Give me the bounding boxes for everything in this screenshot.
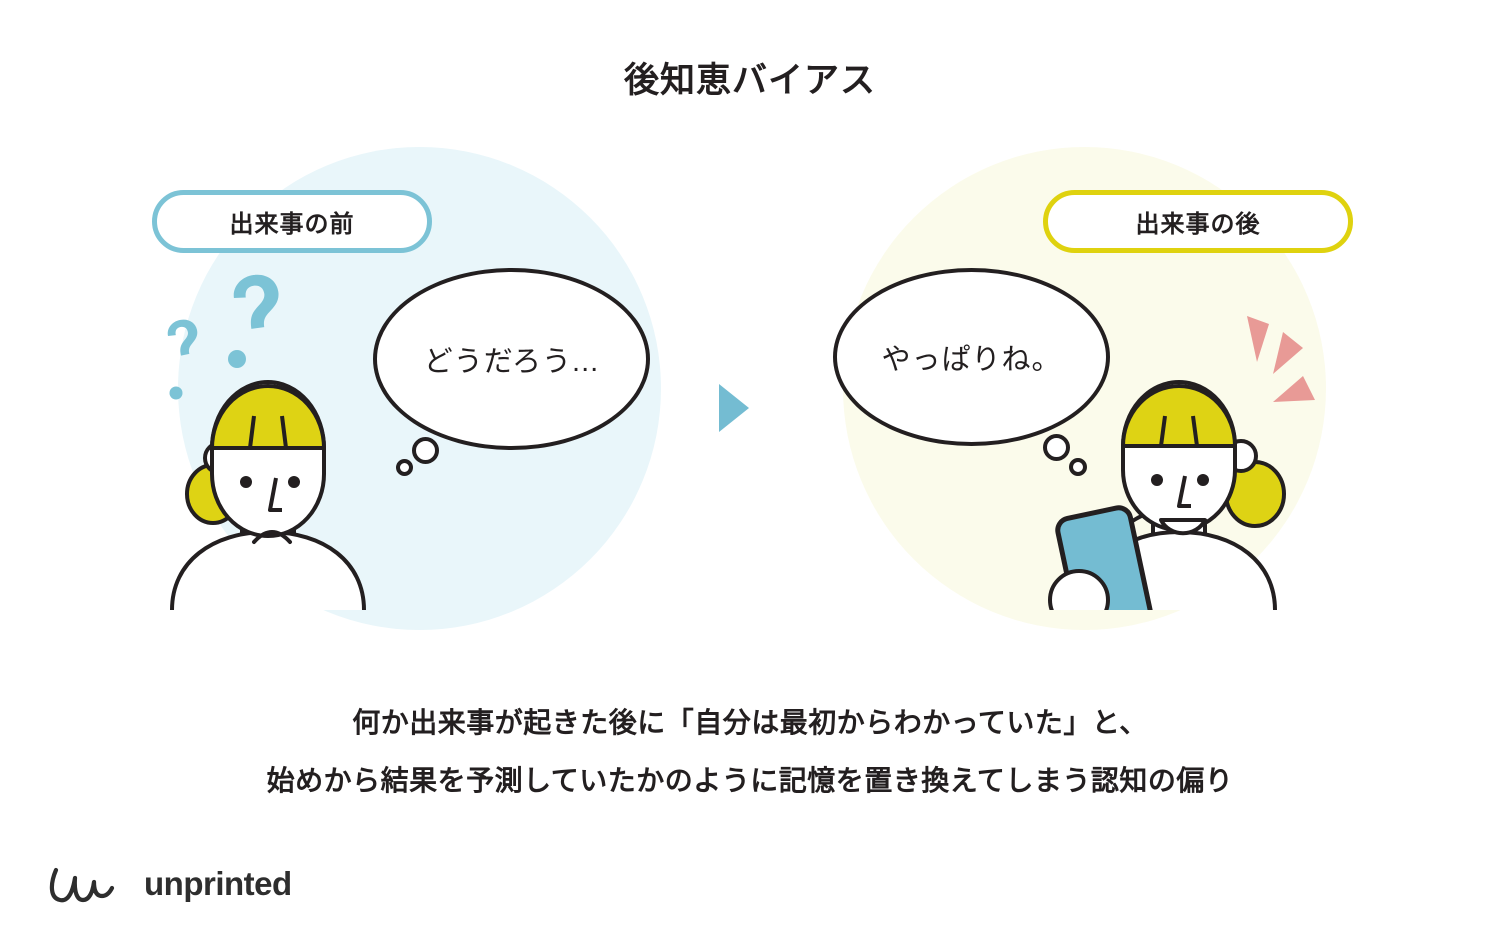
hair-front (212, 386, 324, 448)
hand (1050, 571, 1108, 610)
eye-left (240, 476, 252, 488)
panel-label-before-text: 出来事の前 (230, 204, 355, 239)
panel-label-after-text: 出来事の後 (1136, 204, 1261, 239)
character-illustration-before (150, 270, 400, 610)
footer-logo: unprinted (48, 856, 292, 912)
eye-right (1197, 474, 1209, 486)
panel-label-before: 出来事の前 (152, 190, 432, 253)
infographic-canvas: 後知恵バイアス 出来事の前 どうだろう... (0, 0, 1500, 938)
triangle-right-icon (719, 384, 749, 432)
thought-bubble-before: どうだろう... (373, 268, 650, 450)
thought-bubble-before-text: どうだろう... (424, 338, 599, 380)
eye-left (1151, 474, 1163, 486)
thought-bubble-tail-dot-large (412, 437, 439, 464)
logo-wordmark: unprinted (144, 865, 292, 903)
emphasis-spark-icon (1247, 316, 1315, 402)
eye-right (288, 476, 300, 488)
thought-bubble-after-text: やっぱりね。 (881, 336, 1061, 378)
hair-front (1123, 386, 1235, 446)
caption-line-1: 何か出来事が起きた後に「自分は最初からわかっていた」と、 (0, 694, 1500, 752)
unprinted-script-mark-icon (48, 856, 130, 912)
torso (172, 532, 364, 610)
page-title: 後知恵バイアス (0, 52, 1500, 103)
caption: 何か出来事が起きた後に「自分は最初からわかっていた」と、 始めから結果を予測して… (0, 694, 1500, 810)
caption-line-2: 始めから結果を予測していたかのように記憶を置き換えてしまう認知の偏り (0, 752, 1500, 810)
panel-label-after: 出来事の後 (1043, 190, 1353, 253)
character-illustration-after (1045, 280, 1345, 610)
